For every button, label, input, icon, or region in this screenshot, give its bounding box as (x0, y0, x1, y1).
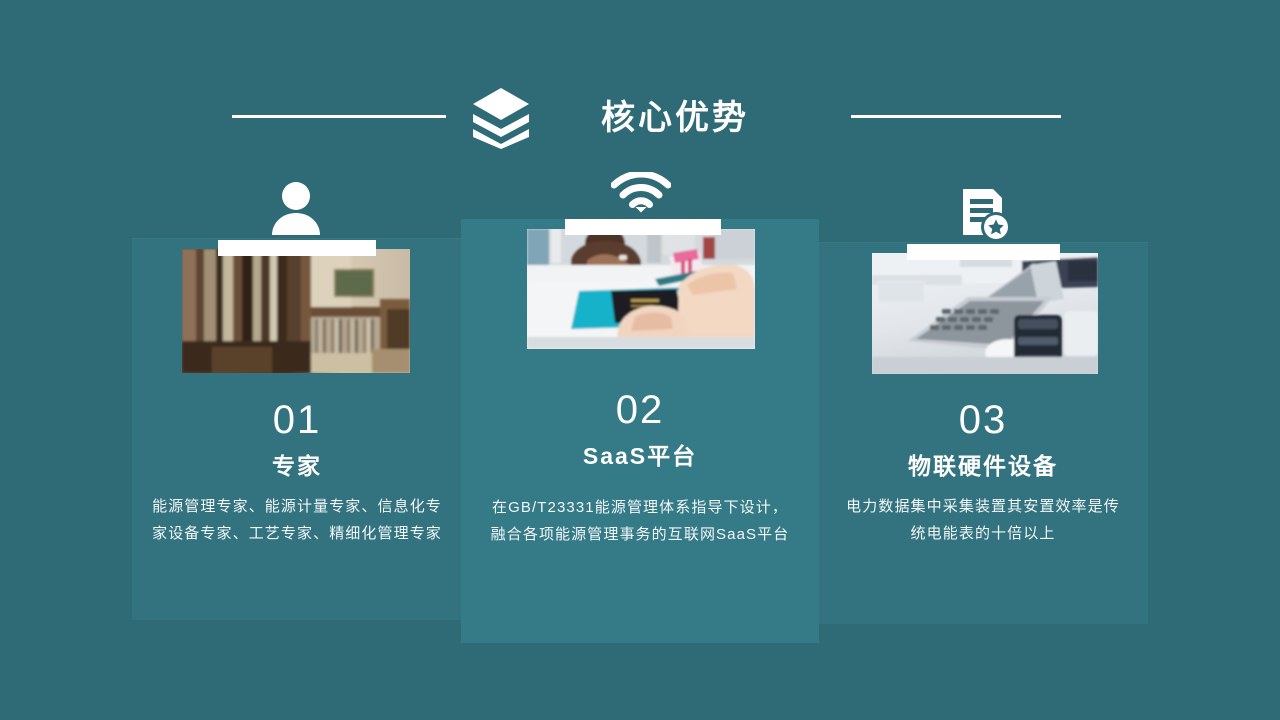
card-1-subtitle: 专家 (132, 450, 462, 482)
slide-header: 核心优势 (0, 40, 1280, 120)
card-1-top-bar (218, 240, 376, 256)
page-title: 核心优势 (560, 90, 790, 146)
laptop-desk-photo (872, 253, 1098, 374)
person-icon (270, 181, 322, 235)
document-star-icon (960, 188, 1010, 242)
card-3-subtitle: 物联硬件设备 (818, 450, 1148, 482)
card-1-body: 能源管理专家、能源计量专家、信息化专家设备专家、工艺专家、精细化管理专家 (152, 493, 442, 547)
card-1-number: 01 (132, 396, 462, 444)
card-3-body: 电力数据集中采集装置其安置效率是传统电能表的十倍以上 (840, 493, 1126, 547)
card-2-subtitle: SaaS平台 (461, 440, 819, 472)
office-meeting-desk-photo (527, 229, 755, 349)
wifi-icon (611, 172, 671, 216)
card-2-top-bar (565, 219, 721, 235)
slide-root: 核心优势 (0, 0, 1280, 720)
layers-stack-icon (469, 87, 533, 149)
card-3-number: 03 (818, 396, 1148, 444)
library-bookshelves-photo (182, 249, 410, 373)
card-2-number: 02 (461, 386, 819, 434)
header-rule-left (232, 115, 446, 118)
card-2-body: 在GB/T23331能源管理体系指导下设计，融合各项能源管理事务的互联网SaaS… (486, 494, 794, 548)
card-3-top-bar (907, 244, 1060, 260)
header-rule-right (851, 115, 1061, 118)
